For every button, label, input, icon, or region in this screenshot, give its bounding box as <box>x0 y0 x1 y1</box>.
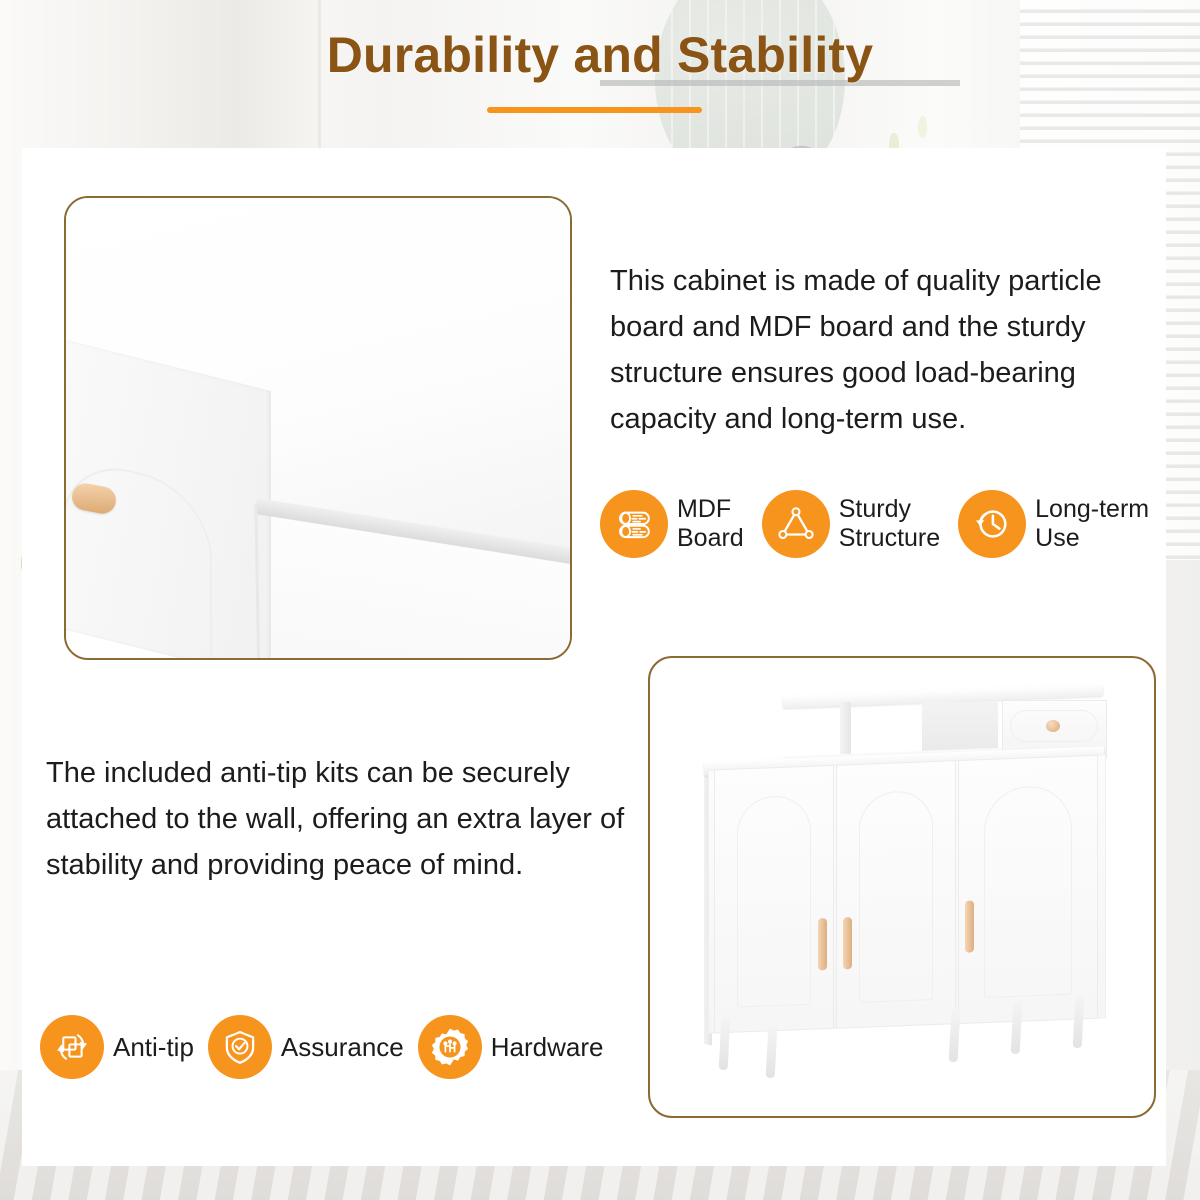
cabinet-door-arch-middle <box>859 790 933 1003</box>
badge-label: MDF Board <box>677 495 744 553</box>
cabinet-leg <box>1073 996 1085 1048</box>
badge-label: Anti-tip <box>113 1033 194 1062</box>
badge-icon-circle <box>600 490 668 558</box>
cabinet-drawer-wooden-knob <box>1046 720 1060 732</box>
badge-icon-circle <box>208 1015 272 1079</box>
shield-check-icon <box>219 1026 261 1068</box>
cabinet-door-right <box>958 755 1098 1024</box>
cabinet-leg <box>1011 1002 1023 1054</box>
wood-logs-icon <box>613 503 655 545</box>
description-paragraph-bottom: The included anti-tip kits can be secure… <box>46 750 626 888</box>
cabinet-door-left <box>714 765 834 1034</box>
cabinet-handle-left <box>818 918 827 970</box>
cabinet-hutch-post <box>840 702 851 758</box>
cabinet-handle-right <box>965 900 974 952</box>
closeup-cabinet-image <box>66 198 570 658</box>
clock-history-icon <box>970 502 1014 546</box>
cabinet-handle-middle <box>843 917 852 969</box>
cabinet-door-arch-right <box>984 785 1072 998</box>
rotating-squares-icon <box>51 1026 93 1068</box>
description-paragraph-top: This cabinet is made of quality particle… <box>610 258 1155 442</box>
product-photo-frame <box>648 656 1156 1118</box>
badge-sturdy-structure: Sturdy Structure <box>762 490 940 558</box>
badge-icon-circle <box>958 490 1026 558</box>
badge-label: Assurance <box>281 1033 404 1062</box>
gear-circuit-icon <box>428 1025 472 1069</box>
cabinet-leg <box>766 1026 778 1078</box>
badge-label: Hardware <box>491 1033 604 1062</box>
triangle-structure-icon <box>775 503 817 545</box>
cabinet-leg <box>719 1018 731 1070</box>
page-title: Durability and Stability <box>0 26 1200 84</box>
feature-badges-bottom: Anti-tip Assurance <box>40 1015 603 1079</box>
title-underline <box>487 107 702 113</box>
badge-icon-circle <box>40 1015 104 1079</box>
badge-icon-circle <box>418 1015 482 1079</box>
badge-anti-tip: Anti-tip <box>40 1015 194 1079</box>
badge-long-term-use: Long-term Use <box>958 490 1149 558</box>
badge-mdf-board: MDF Board <box>600 490 744 558</box>
cabinet-door-middle <box>836 760 956 1029</box>
cabinet-body <box>708 754 1106 1033</box>
badge-icon-circle <box>762 490 830 558</box>
badge-label: Long-term Use <box>1035 495 1149 553</box>
cabinet-leg <box>949 1010 961 1062</box>
badge-label: Sturdy Structure <box>839 495 940 553</box>
cabinet-door-arch-left <box>737 795 811 1008</box>
closeup-photo-frame <box>64 196 572 660</box>
feature-badges-top: MDF Board Sturdy Structure Long-term Use <box>600 490 1149 558</box>
product-cabinet-image <box>650 658 1156 1118</box>
badge-hardware: Hardware <box>418 1015 604 1079</box>
badge-assurance: Assurance <box>208 1015 404 1079</box>
